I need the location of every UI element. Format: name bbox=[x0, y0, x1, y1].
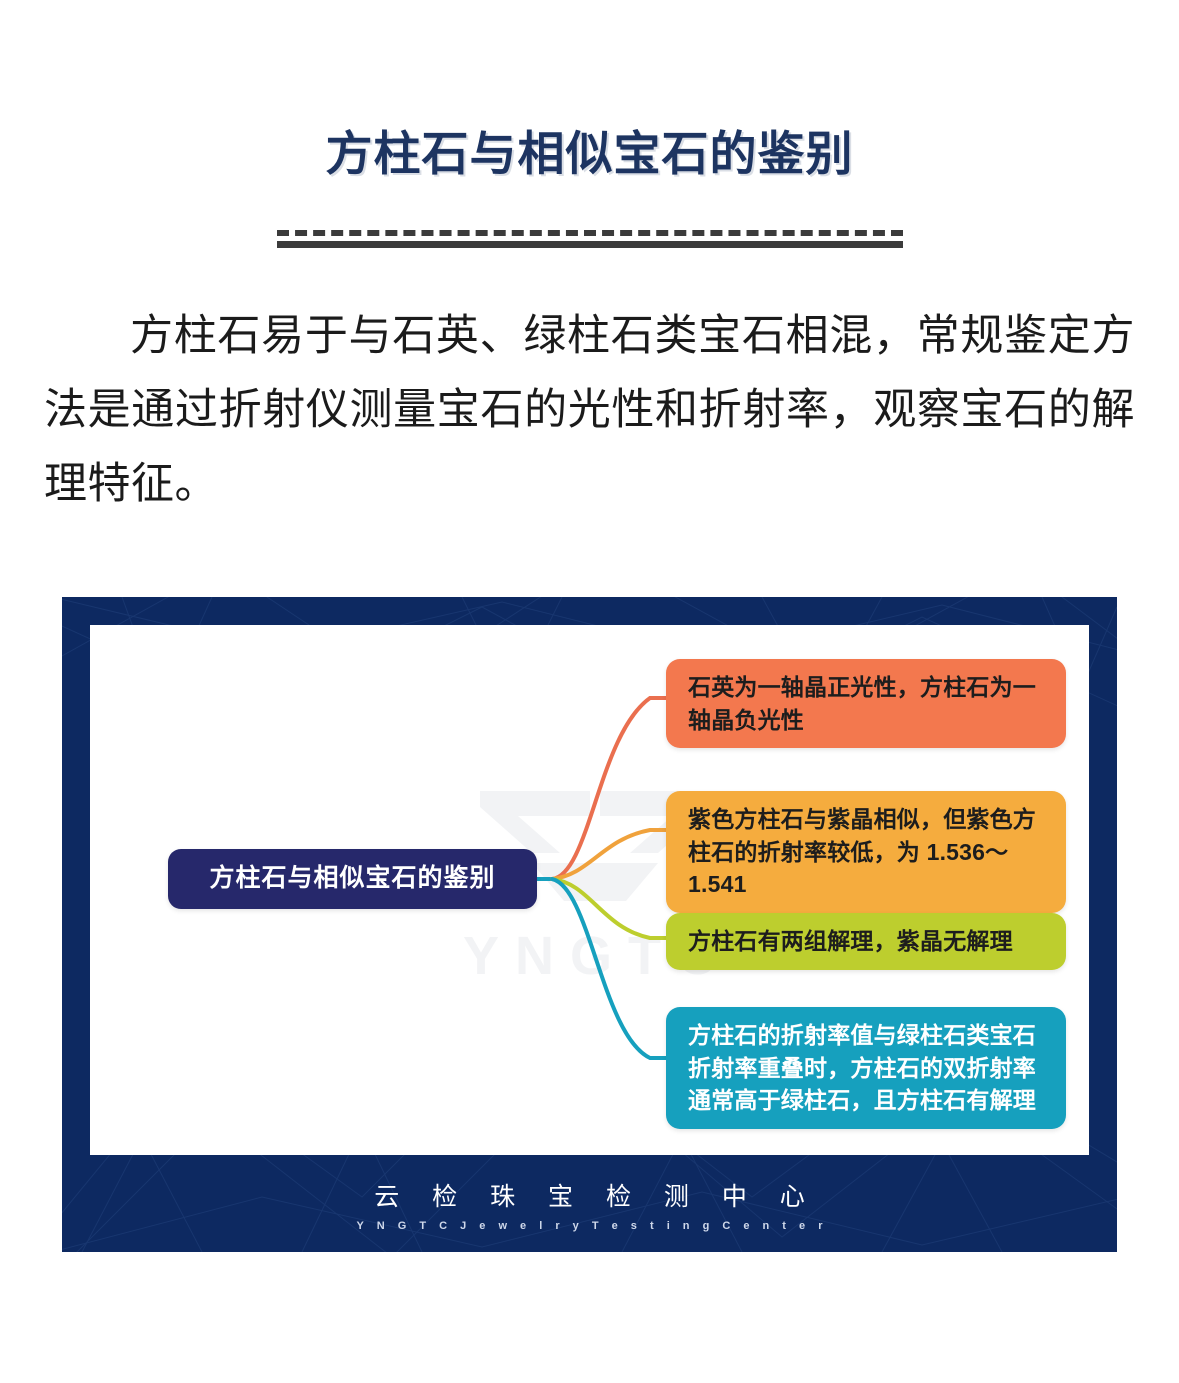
mindmap-root-label: 方柱石与相似宝石的鉴别 bbox=[209, 861, 495, 897]
mindmap-branch-refractive-index[interactable]: 紫色方柱石与紫晶相似，但紫色方柱石的折射率较低，为 1.536～1.541 bbox=[666, 791, 1066, 913]
footer-brand-en: Y N G T C J e w e l r y T e s t i n g C … bbox=[62, 1220, 1117, 1232]
title-divider bbox=[277, 230, 903, 248]
body-paragraph: 方柱石易于与石英、绿柱石类宝石相混，常规鉴定方法是通过折射仪测量宝石的光性和折射… bbox=[44, 300, 1135, 522]
mindmap-root-node[interactable]: 方柱石与相似宝石的鉴别 bbox=[168, 849, 537, 909]
page-title: 方柱石与相似宝石的鉴别 bbox=[326, 127, 854, 181]
title-section: 方柱石与相似宝石的鉴别 bbox=[0, 0, 1179, 248]
mindmap-canvas: YNGTC 方柱石与相似宝石的鉴别 石英为一轴晶正光性，方柱石为一轴晶负光性 bbox=[90, 625, 1089, 1155]
mindmap-branch-label: 石英为一轴晶正光性，方柱石为一轴晶负光性 bbox=[688, 671, 1044, 736]
mindmap-branch-optical-sign[interactable]: 石英为一轴晶正光性，方柱石为一轴晶负光性 bbox=[666, 659, 1066, 748]
mindmap-branch-label: 紫色方柱石与紫晶相似，但紫色方柱石的折射率较低，为 1.536～1.541 bbox=[688, 803, 1044, 901]
mindmap-branch-cleavage[interactable]: 方柱石有两组解理，紫晶无解理 bbox=[666, 913, 1066, 970]
mindmap-branch-label: 方柱石有两组解理，紫晶无解理 bbox=[688, 925, 1013, 958]
card-footer: 云 检 珠 宝 检 测 中 心 Y N G T C J e w e l r y … bbox=[62, 1177, 1117, 1232]
footer-brand-cn: 云 检 珠 宝 检 测 中 心 bbox=[62, 1177, 1117, 1213]
solid-rule bbox=[277, 241, 903, 248]
mindmap: 方柱石与相似宝石的鉴别 石英为一轴晶正光性，方柱石为一轴晶负光性 紫色方柱石与紫… bbox=[90, 625, 1089, 1155]
mindmap-card: YNGTC 方柱石与相似宝石的鉴别 石英为一轴晶正光性，方柱石为一轴晶负光性 bbox=[62, 597, 1117, 1252]
dashed-rule bbox=[277, 230, 903, 236]
mindmap-branch-label: 方柱石的折射率值与绿柱石类宝石折射率重叠时，方柱石的双折射率通常高于绿柱石，且方… bbox=[688, 1019, 1044, 1117]
mindmap-branch-birefringence[interactable]: 方柱石的折射率值与绿柱石类宝石折射率重叠时，方柱石的双折射率通常高于绿柱石，且方… bbox=[666, 1007, 1066, 1129]
